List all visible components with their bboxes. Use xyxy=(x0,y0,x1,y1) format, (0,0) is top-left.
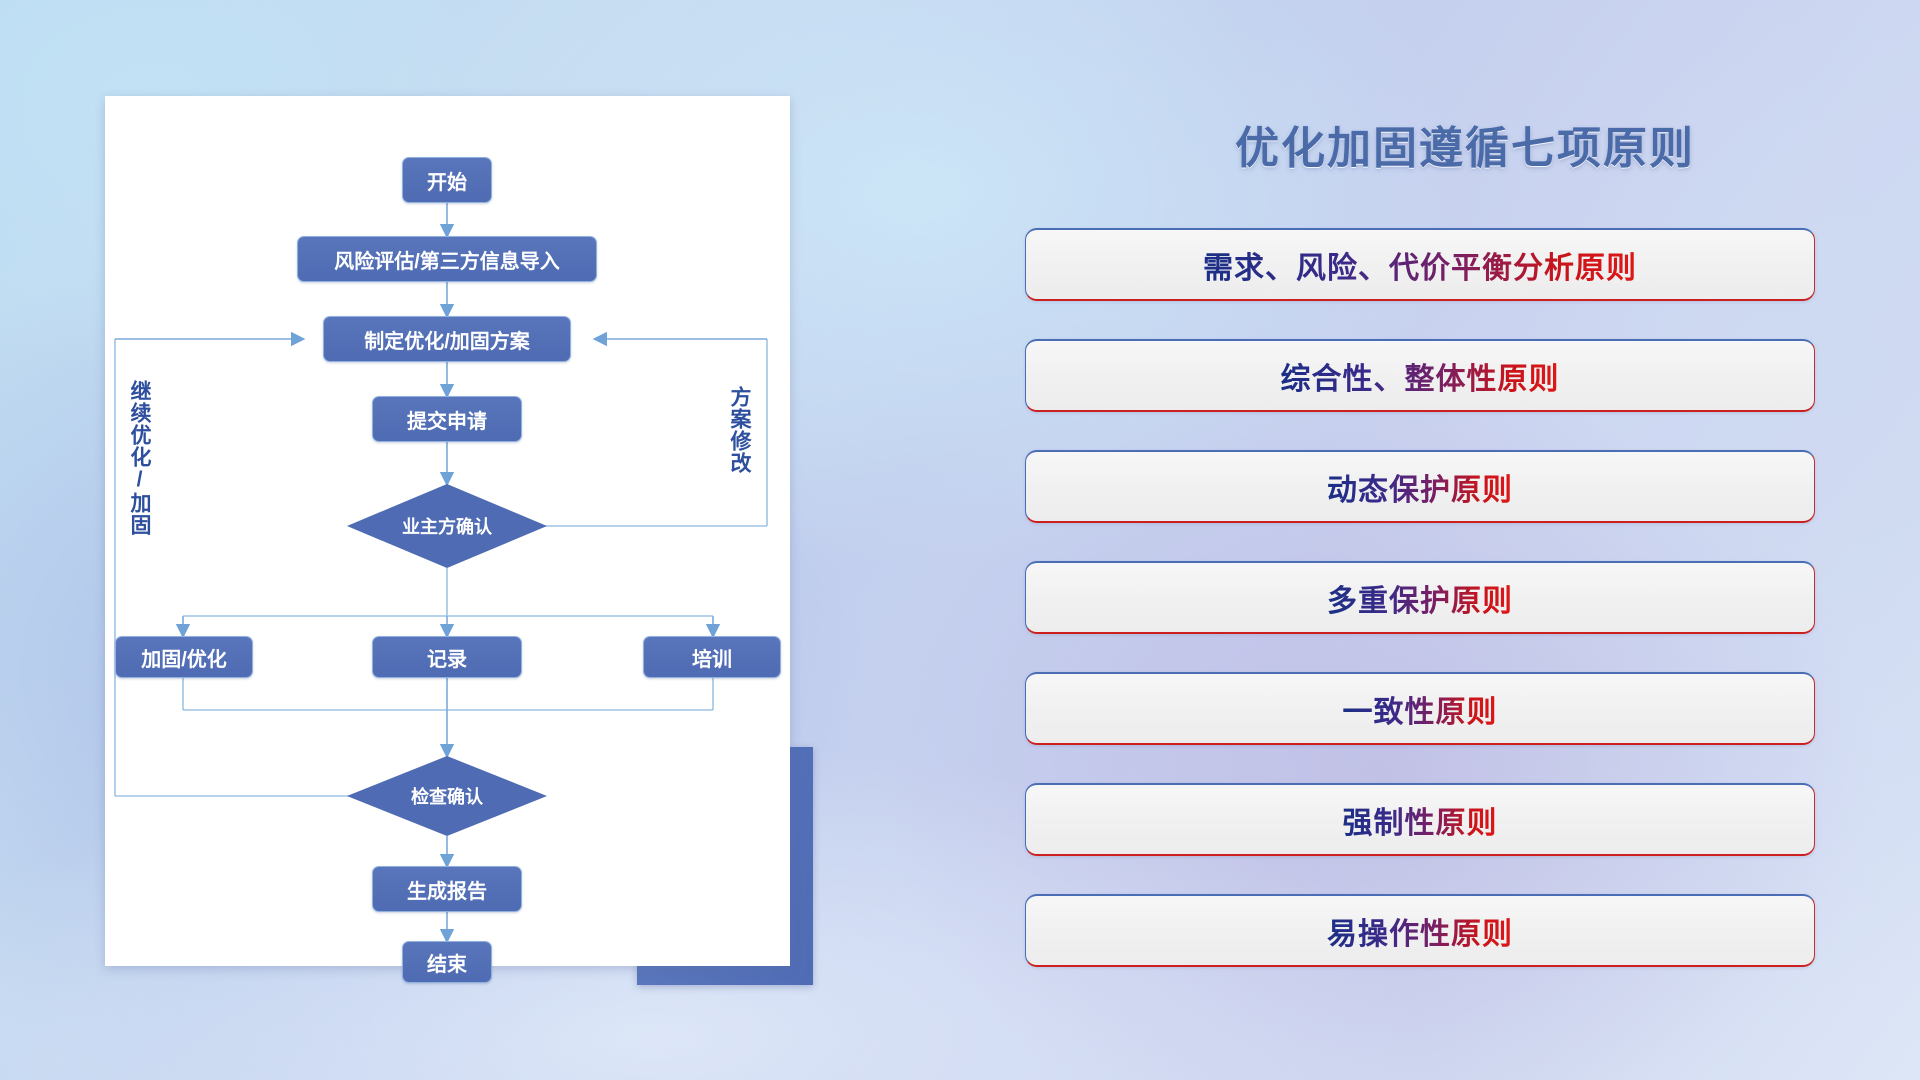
edge-label-continue-optimize: 继续优化/加固 xyxy=(128,380,150,536)
flow-node-owner-confirm[interactable]: 业主方确认 xyxy=(347,484,547,568)
flow-node-reinforce[interactable]: 加固/优化 xyxy=(115,636,253,678)
flow-node-label: 加固/优化 xyxy=(141,643,227,672)
principles-card-list: 需求、风险、代价平衡分析原则 综合性、整体性原则 动态保护原则 多重保护原则 一… xyxy=(1025,228,1815,1005)
flow-node-label: 提交申请 xyxy=(407,405,487,434)
flow-node-end[interactable]: 结束 xyxy=(402,941,492,983)
principle-card[interactable]: 综合性、整体性原则 xyxy=(1025,339,1815,412)
flow-node-label: 记录 xyxy=(427,643,467,672)
principle-card[interactable]: 强制性原则 xyxy=(1025,783,1815,856)
principle-label: 一致性原则 xyxy=(1343,687,1498,731)
principle-card[interactable]: 动态保护原则 xyxy=(1025,450,1815,523)
flow-node-start[interactable]: 开始 xyxy=(402,157,492,203)
flow-node-label: 结束 xyxy=(427,948,467,977)
flow-node-label: 生成报告 xyxy=(407,875,487,904)
flow-node-label: 风险评估/第三方信息导入 xyxy=(334,245,560,274)
edge-label-plan-revision: 方案修改 xyxy=(728,386,750,474)
principles-panel: 优化加固遵循七项原则 需求、风险、代价平衡分析原则 综合性、整体性原则 动态保护… xyxy=(1010,0,1920,1080)
flow-node-plan[interactable]: 制定优化/加固方案 xyxy=(323,316,571,362)
principle-label: 综合性、整体性原则 xyxy=(1281,354,1560,398)
principle-label: 动态保护原则 xyxy=(1327,465,1513,509)
flow-node-risk-assessment[interactable]: 风险评估/第三方信息导入 xyxy=(297,236,597,282)
flow-node-label: 培训 xyxy=(692,643,732,672)
principle-card[interactable]: 需求、风险、代价平衡分析原则 xyxy=(1025,228,1815,301)
flow-node-label: 制定优化/加固方案 xyxy=(364,325,530,354)
principle-card[interactable]: 一致性原则 xyxy=(1025,672,1815,745)
principle-label: 强制性原则 xyxy=(1343,798,1498,842)
flowchart-card: 开始 风险评估/第三方信息导入 制定优化/加固方案 提交申请 业主方确认 加固/… xyxy=(105,96,790,966)
flow-node-check-confirm[interactable]: 检查确认 xyxy=(347,756,547,836)
flow-node-training[interactable]: 培训 xyxy=(643,636,781,678)
principle-label: 多重保护原则 xyxy=(1327,576,1513,620)
flow-node-label: 业主方确认 xyxy=(402,513,492,539)
flow-node-label: 检查确认 xyxy=(411,783,483,809)
flow-node-generate-report[interactable]: 生成报告 xyxy=(372,866,522,912)
principle-card[interactable]: 易操作性原则 xyxy=(1025,894,1815,967)
flow-node-submit-application[interactable]: 提交申请 xyxy=(372,396,522,442)
flow-node-record[interactable]: 记录 xyxy=(372,636,522,678)
principle-card[interactable]: 多重保护原则 xyxy=(1025,561,1815,634)
principle-label: 易操作性原则 xyxy=(1327,909,1513,953)
panel-title: 优化加固遵循七项原则 xyxy=(1010,112,1920,176)
flow-node-label: 开始 xyxy=(427,166,467,195)
principle-label: 需求、风险、代价平衡分析原则 xyxy=(1203,243,1637,287)
